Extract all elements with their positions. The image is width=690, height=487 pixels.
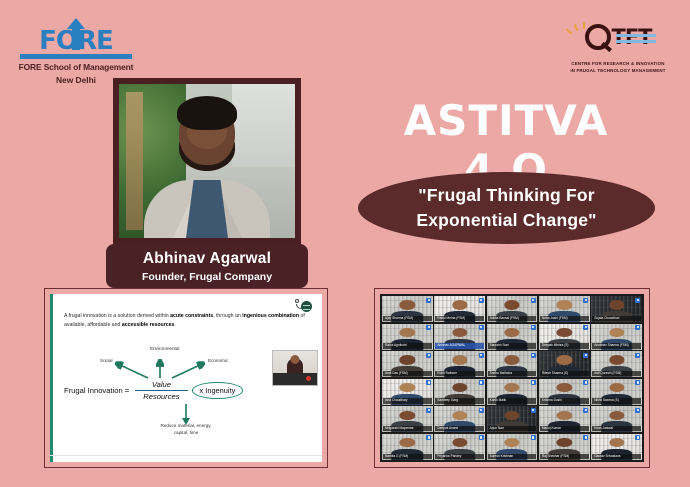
participant-tile[interactable]: Neha Joshi (FSM) [539, 296, 590, 322]
reduce-line-2: capital, time [50, 429, 322, 436]
frugal-innovation-formula: Frugal Innovation = Value Resources x In… [64, 380, 243, 401]
crift-logo-line1: CENTRE FOR RESEARCH & INNOVATION [562, 61, 674, 66]
tagline-line-2: Exponential Change" [416, 210, 596, 231]
globe-location-icon [294, 299, 312, 313]
reduce-line-1: Reduce material, energy, [50, 422, 322, 429]
participant-tile[interactable]: Abhinav AGARWAL [434, 324, 485, 350]
participant-name-label: Kartik Malik [488, 398, 537, 404]
microphone-icon[interactable] [583, 325, 588, 330]
definition-bold-1: acute constraints [170, 313, 213, 319]
definition-part-4: . [174, 322, 175, 328]
speaker-name-band: Abhinav Agarwal Founder, Frugal Company [106, 244, 308, 288]
crift-logo-mark: TFT [562, 24, 674, 58]
microphone-icon[interactable] [531, 325, 536, 330]
speaker-photo-frame [113, 78, 301, 244]
participant-name-label: Ajay Sharma (FSM) [383, 316, 432, 322]
participant-tile[interactable]: Krishna Doshi [539, 379, 590, 405]
definition-part-1: A frugal innovation is a solution derive… [64, 313, 170, 319]
participant-grid: Ajay Sharma (FSM)Rahul Mehta (FSM)Ankita… [380, 294, 644, 462]
speaker-name: Abhinav Agarwal [143, 250, 271, 268]
participant-name-label: Deepak Mishra (S) [540, 343, 589, 349]
microphone-icon[interactable] [479, 325, 484, 330]
participant-tile[interactable]: Suresh Krishnan [487, 434, 538, 460]
participant-name-label: Rohit Rathore [435, 371, 484, 377]
slide-footer-rule [50, 455, 322, 456]
participant-tile[interactable]: Priyanka Pandey [434, 434, 485, 460]
participant-name-label: Sandeep Garg [435, 398, 484, 404]
participant-tile[interactable]: Gaurav Srivastava [591, 434, 642, 460]
definition-bold-3: accessible resources [122, 322, 175, 328]
participant-tile[interactable]: Kiran Jaiswal [591, 406, 642, 432]
participant-name-label: Kiran Jaiswal [592, 426, 641, 432]
participant-name-label: Manoj Kumar [540, 426, 589, 432]
microphone-icon[interactable] [635, 408, 640, 413]
up-arrow-stem-icon [72, 28, 80, 50]
lightbulb-idea-icon [585, 24, 611, 50]
microphone-icon[interactable] [479, 353, 484, 358]
participant-name-label: Sujata Chowdhuri [592, 316, 641, 322]
microphone-icon[interactable] [426, 408, 431, 413]
participant-name-label: Suresh Krishnan [488, 454, 537, 460]
participant-name-label: Ritesh Sharma (S) [540, 371, 589, 377]
formula-label: Frugal Innovation = [64, 386, 129, 395]
fore-logo-baseline [20, 54, 132, 59]
formula-ingenuity-term: x Ingenuity [192, 382, 244, 399]
microphone-icon[interactable] [479, 380, 484, 385]
formula-denominator: Resources [135, 391, 187, 401]
participant-name-label: Saurabh Soni [488, 343, 537, 349]
microphone-icon[interactable] [635, 380, 640, 385]
participant-tile[interactable]: Rahul Agnihotri [382, 324, 433, 350]
participant-name-label: Rahul Agnihotri [383, 343, 432, 349]
participant-name-label: Sneha Malhotra [488, 371, 537, 377]
crift-logo-line2: IN FRUGAL TECHNOLOGY MANAGEMENT [562, 68, 674, 73]
participant-name-label: Neha Joshi (FSM) [540, 316, 589, 322]
tagline-line-1: "Frugal Thinking For [418, 185, 595, 206]
participant-name-label: Abhinav AGARWAL [435, 343, 484, 349]
participant-name-label: Deepak Anand [435, 426, 484, 432]
microphone-icon[interactable] [635, 435, 640, 440]
crift-logo: TFT CENTRE FOR RESEARCH & INNOVATION IN … [562, 24, 674, 73]
participant-name-label: Mrigakshi Majumdar [383, 426, 432, 432]
participant-name-label: Krishna Doshi [540, 398, 589, 404]
formula-numerator: Value [135, 380, 187, 390]
microphone-icon[interactable] [635, 325, 640, 330]
participant-tile[interactable]: Ankita Bansal (FSM) [487, 296, 538, 322]
microphone-icon[interactable] [426, 298, 431, 303]
participant-tile[interactable]: Amit Das (FSM) [382, 351, 433, 377]
fore-school-logo: FORE FORE School of Management New Delhi [16, 22, 136, 85]
speaker-designation: Founder, Frugal Company [142, 271, 272, 283]
slide-definition-text: A frugal innovation is a solution derive… [64, 312, 308, 330]
participant-tile[interactable]: Sneha Malhotra [487, 351, 538, 377]
microphone-icon[interactable] [635, 353, 640, 358]
participant-name-label: Raj Shekhar (FSM) [540, 454, 589, 460]
participant-tile[interactable]: Rahul Mehta (FSM) [434, 296, 485, 322]
microphone-icon[interactable] [531, 380, 536, 385]
speaker-portrait [119, 84, 295, 238]
participant-tile[interactable]: Arjun Nair [487, 406, 538, 432]
participant-name-label: Gaurav Srivastava [592, 454, 641, 460]
participant-tile[interactable]: Raj Shekhar (FSM) [539, 434, 590, 460]
slide-reduce-note: Reduce material, energy, capital, time [50, 422, 322, 437]
microphone-icon[interactable] [635, 298, 640, 303]
participant-tile[interactable]: Deepak Mishra (S) [539, 324, 590, 350]
participant-name-label: Asif Qureshi (FSM) [592, 371, 641, 377]
participant-tile[interactable]: Manoj Kumar [539, 406, 590, 432]
tagline-badge: "Frugal Thinking For Exponential Change" [358, 172, 655, 244]
participant-tile[interactable]: Sandeep Garg [434, 379, 485, 405]
microphone-icon[interactable] [426, 325, 431, 330]
slide-label-environmental: Environmental [150, 346, 179, 351]
impact-arrows-icon [90, 352, 240, 380]
slide-accent-bar [50, 294, 53, 462]
participant-name-label: Arjun Nair [488, 426, 537, 432]
participant-tile[interactable]: Anubhav Sharma (FSM) [591, 324, 642, 350]
microphone-icon[interactable] [583, 298, 588, 303]
participant-tile[interactable]: Nikhil Saxena (S) [591, 379, 642, 405]
participant-tile[interactable]: Sujata Chowdhuri [591, 296, 642, 322]
participant-tile[interactable]: Asif Qureshi (FSM) [591, 351, 642, 377]
participant-tile[interactable]: Rohit Rathore [434, 351, 485, 377]
microphone-icon[interactable] [531, 353, 536, 358]
poster-canvas: FORE FORE School of Management New Delhi… [0, 0, 690, 487]
participant-tile[interactable]: Isha Chaudhary [382, 379, 433, 405]
formula-fraction: Value Resources [135, 380, 187, 401]
participant-tile[interactable]: Ritesh Sharma (S) [539, 351, 590, 377]
definition-bold-2: ingenious combination [242, 313, 299, 319]
microphone-icon[interactable] [479, 298, 484, 303]
microphone-icon[interactable] [531, 435, 536, 440]
microphone-icon[interactable] [426, 380, 431, 385]
participant-tile[interactable]: Deepak Anand [434, 406, 485, 432]
microphone-icon[interactable] [583, 353, 588, 358]
participant-name-label: Namita G (FSM) [383, 454, 432, 460]
microphone-icon[interactable] [583, 380, 588, 385]
microphone-icon[interactable] [583, 435, 588, 440]
participant-tile[interactable]: Saurabh Soni [487, 324, 538, 350]
participant-name-label: Isha Chaudhary [383, 398, 432, 404]
video-call-panel: Ajay Sharma (FSM)Rahul Mehta (FSM)Ankita… [374, 288, 650, 468]
presentation-slide: A frugal innovation is a solution derive… [50, 294, 322, 462]
participant-name-label: Priyanka Pandey [435, 454, 484, 460]
microphone-icon[interactable] [531, 408, 536, 413]
participant-name-label: Anubhav Sharma (FSM) [592, 343, 641, 349]
participant-tile[interactable]: Namita G (FSM) [382, 434, 433, 460]
participant-name-label: Rahul Mehta (FSM) [435, 316, 484, 322]
presentation-slide-panel: A frugal innovation is a solution derive… [44, 288, 328, 468]
microphone-icon[interactable] [426, 435, 431, 440]
microphone-icon[interactable] [583, 408, 588, 413]
microphone-icon[interactable] [479, 435, 484, 440]
participant-name-label: Ankita Bansal (FSM) [488, 316, 537, 322]
participant-name-label: Amit Das (FSM) [383, 371, 432, 377]
participant-tile[interactable]: Mrigakshi Majumdar [382, 406, 433, 432]
participant-tile[interactable]: Kartik Malik [487, 379, 538, 405]
microphone-icon[interactable] [426, 353, 431, 358]
fore-logo-line1: FORE School of Management [16, 62, 136, 72]
fore-logo-mark: FORE [16, 22, 136, 60]
definition-part-2: , through an [213, 313, 242, 319]
participant-name-label: Nikhil Saxena (S) [592, 398, 641, 404]
participant-tile[interactable]: Ajay Sharma (FSM) [382, 296, 433, 322]
microphone-icon[interactable] [531, 298, 536, 303]
microphone-icon[interactable] [479, 408, 484, 413]
presenter-webcam-thumbnail [272, 350, 318, 386]
